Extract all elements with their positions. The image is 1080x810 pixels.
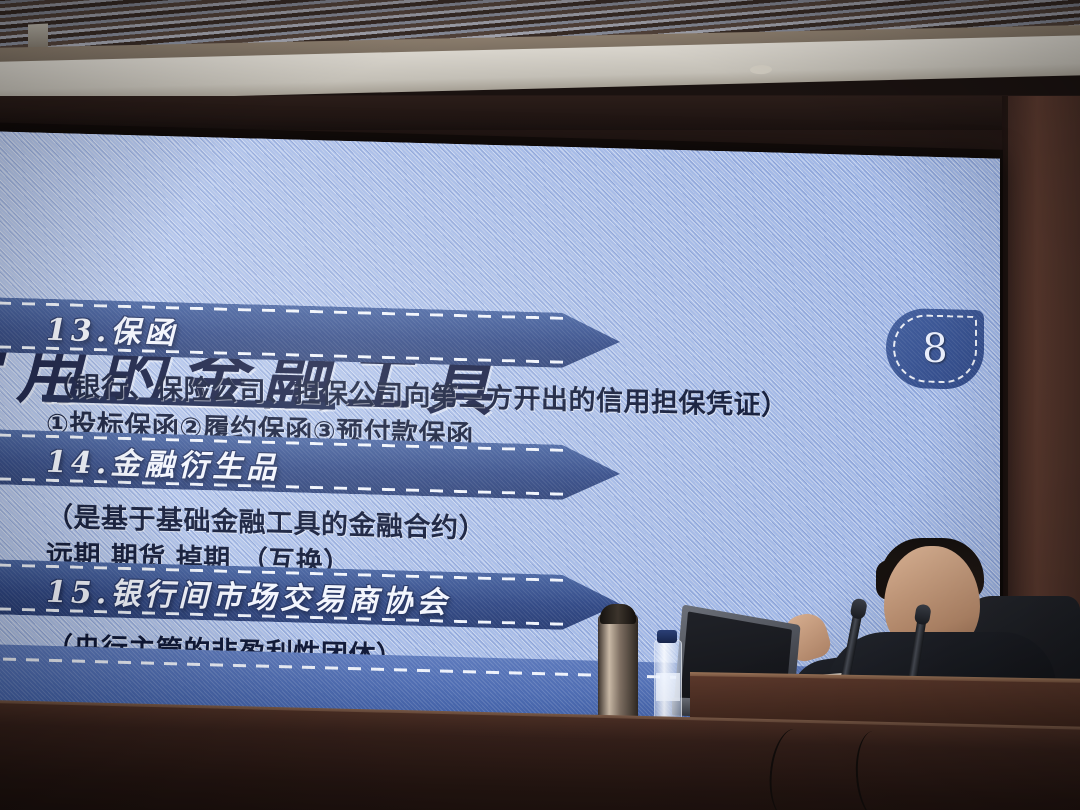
cable [765, 726, 816, 810]
thermos-flask [598, 614, 638, 724]
bottle-label [656, 673, 680, 701]
banner-label-13: 13.保函 [46, 304, 178, 352]
cable [853, 730, 901, 810]
ceiling-light-icon [750, 65, 772, 75]
wall-upper-strip [0, 96, 1080, 130]
page-number-text: 8 [886, 308, 984, 391]
banner-label-14: 14.金融衍生品 [46, 436, 280, 486]
bottle-cap [657, 630, 677, 643]
thermos-cap [600, 604, 636, 624]
water-bottle [654, 640, 682, 728]
screenshot-root: 常用的金融工具 8 13.保函 （银行、保险公司、担保公司向第三方开出的信用担保… [0, 0, 1080, 810]
page-number-badge: 8 [886, 308, 984, 391]
